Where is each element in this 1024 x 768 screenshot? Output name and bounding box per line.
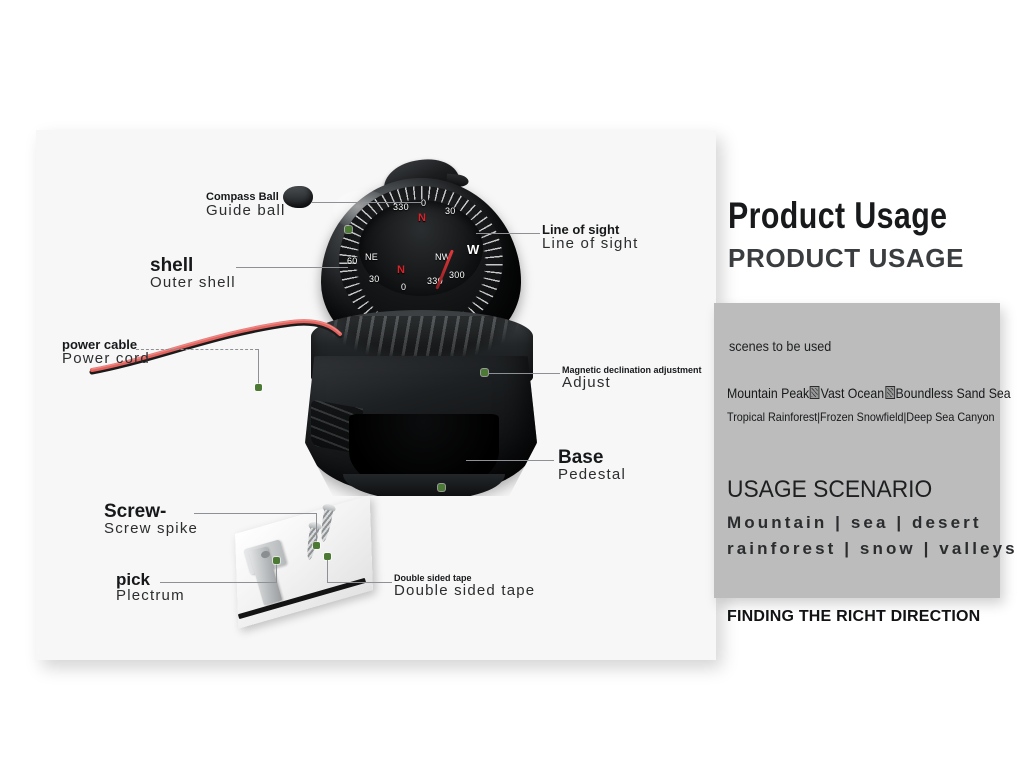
leader-line-screw [194, 513, 316, 514]
panel-footer-tagline: FINDING THE RICHT DIRECTION [727, 608, 980, 626]
callout-en-screw: Screw spike [104, 521, 198, 537]
dial-mark-30: 30 [369, 274, 380, 284]
callout-dot-base [438, 484, 445, 491]
product-usage-column: Product Usage PRODUCT USAGE scenes to be… [714, 180, 1024, 650]
dial-north-marker: N [418, 212, 426, 224]
scenes-line-1: Mountain PeakVast OceanBoundless Sand Se… [727, 385, 1011, 401]
leader-line-adjust [488, 373, 560, 374]
dial-mark-300: 300 [449, 270, 465, 280]
callout-dot-tape [324, 553, 331, 560]
leader-line-tape-vertical [327, 560, 328, 582]
leader-line-line-of-sight [476, 233, 540, 234]
leader-line-power-cord [136, 349, 258, 350]
callout-label-adjust: Magnetic declination adjustment Adjust [562, 366, 702, 391]
callout-cn-power-cord: power cable [62, 338, 150, 351]
usage-scenario-heading: USAGE SCENARIO [727, 476, 932, 504]
callout-cn-outer-shell: shell [150, 256, 236, 275]
callout-label-guide-ball: Compass Ball Guide ball [206, 192, 286, 219]
callout-en-adjust: Adjust [562, 375, 702, 391]
dial-mark-0-inner: 0 [421, 198, 426, 208]
leader-line-power-cord-vertical [258, 349, 259, 387]
callout-en-guide-ball: Guide ball [206, 203, 286, 219]
callout-cn-base: Base [558, 448, 626, 467]
dial-mark-330-inner: 330 [393, 202, 409, 212]
callout-dot-guide-ball [345, 226, 352, 233]
adjustment-knob [283, 186, 313, 208]
callout-label-plectrum: pick Plectrum [116, 571, 185, 604]
callout-label-power-cord: power cable Power cord [62, 338, 150, 367]
leader-line-base [466, 460, 554, 461]
scenes-line-2: Tropical Rainforest|Frozen Snowfield|Dee… [727, 410, 995, 424]
panel-title-secondary: PRODUCT USAGE [728, 243, 964, 274]
callout-dot-power-cord [255, 384, 262, 391]
callout-dot-plectrum [273, 557, 280, 564]
callout-cn-plectrum: pick [116, 571, 185, 588]
leader-line-tape [327, 582, 392, 583]
dial-mark-NE: NE [365, 252, 378, 262]
leader-line-guide-ball [312, 202, 422, 203]
scene-item-sand-sea: Boundless Sand Sea [896, 385, 1011, 401]
callout-cn-screw: Screw- [104, 502, 198, 521]
product-diagram-card: 330 0 30 N NE NW W N 60 30 0 330 300 [36, 130, 716, 660]
dial-mark-30-inner: 30 [445, 206, 456, 216]
leader-line-screw-vertical [316, 513, 317, 545]
callout-en-tape: Double sided tape [394, 583, 535, 599]
callout-label-base: Base Pedestal [558, 448, 626, 483]
callout-en-power-cord: Power cord [62, 351, 150, 367]
usage-scenario-line-1: Mountain | sea | desert [727, 513, 982, 533]
callout-en-outer-shell: Outer shell [150, 275, 236, 291]
panel-title-primary: Product Usage [728, 195, 947, 237]
callout-dot-screw [313, 542, 320, 549]
scenes-heading: scenes to be used [729, 338, 831, 354]
scene-item-mountain-peak: Mountain Peak [727, 385, 809, 401]
dial-mark-60: 60 [347, 256, 358, 266]
callout-label-screw: Screw- Screw spike [104, 502, 198, 537]
callout-label-outer-shell: shell Outer shell [150, 256, 236, 291]
leader-line-outer-shell [236, 267, 348, 268]
compass-product-illustration: 330 0 30 N NE NW W N 60 30 0 330 300 [291, 160, 551, 500]
mounting-accessories-illustration [204, 500, 404, 630]
leader-line-plectrum-vertical [276, 562, 277, 583]
missing-glyph-separator-icon [885, 386, 895, 399]
callout-en-plectrum: Plectrum [116, 588, 185, 604]
dial-mark-N-outer: N [397, 264, 405, 276]
callout-label-line-of-sight: Line of sight Line of sight [542, 223, 639, 252]
callout-cn-line-of-sight: Line of sight [542, 223, 639, 236]
callout-en-base: Pedestal [558, 467, 626, 483]
dial-mark-0: 0 [401, 282, 406, 292]
infographic-stage: 330 0 30 N NE NW W N 60 30 0 330 300 [0, 0, 1024, 768]
dial-mark-W: W [467, 242, 480, 257]
callout-label-tape: Double sided tape Double sided tape [394, 574, 535, 599]
callout-en-line-of-sight: Line of sight [542, 236, 639, 252]
usage-scenario-line-2: rainforest | snow | valleys [727, 539, 1018, 559]
callout-dot-adjust [481, 369, 488, 376]
missing-glyph-separator-icon [810, 386, 820, 399]
scene-item-vast-ocean: Vast Ocean [821, 385, 884, 401]
